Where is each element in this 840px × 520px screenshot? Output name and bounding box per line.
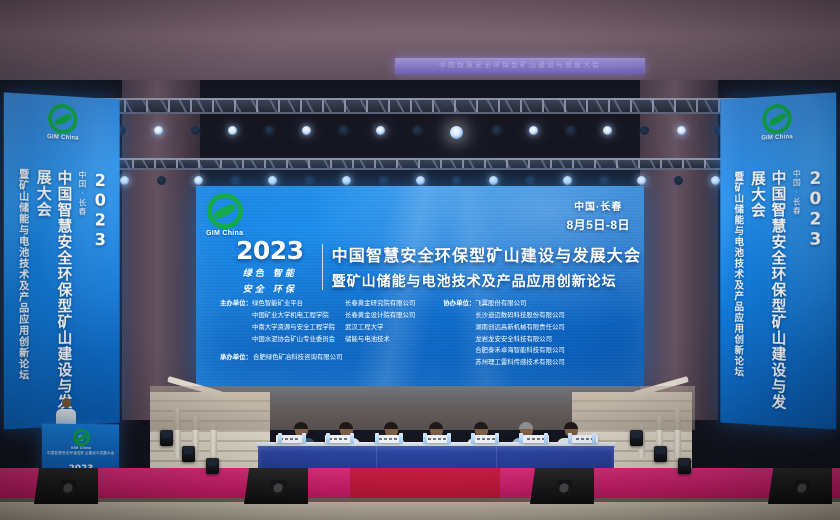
stage-lamp — [339, 126, 348, 135]
floor-edge-strip — [0, 498, 840, 502]
water-bottle — [544, 433, 548, 444]
water-bottle — [375, 433, 379, 444]
panelist-hair — [474, 422, 488, 429]
water-bottle — [278, 433, 282, 444]
stage-lamp — [674, 176, 683, 185]
stage-lamp — [228, 126, 237, 135]
stage-lamp — [268, 176, 277, 185]
stage-lamp — [529, 126, 538, 135]
lighting-truss-upper — [58, 98, 782, 114]
main-led-screen: GIM China 中国·长春 8月5日-8日 2023 绿色 智能 安全 环保… — [196, 186, 644, 386]
foreground-floor — [0, 498, 840, 520]
side-banner-left: GIM China 2023 中国·长春 中国智慧安全环保型矿山建设与发展大会 … — [4, 92, 120, 429]
stage-lamp — [637, 176, 646, 185]
stage-scene: 中国智慧安全环保型矿山建设与发展大会 GIM China 2023 中国·长春 … — [0, 0, 840, 520]
stage-light-row-lower — [120, 176, 720, 185]
banner-left-year: 2023 — [91, 171, 110, 418]
speaker-grill — [59, 480, 77, 496]
banner-left-subtitle: 暨矿山储能与电池技术及产品应用创新论坛 — [15, 168, 30, 423]
host-organizer-item: 长春黄金设计院有限公司 — [345, 310, 415, 322]
moving-head-light — [182, 446, 195, 462]
banner-right-subtitle: 暨矿山储能与电池技术及产品应用创新论坛 — [730, 171, 744, 418]
floor-monitor-speaker — [34, 468, 98, 504]
stage-lamp — [452, 176, 461, 185]
stage-lamp — [450, 126, 463, 139]
water-bottle — [423, 433, 427, 444]
stage-lamp — [489, 176, 498, 185]
stage-lamp — [677, 126, 686, 135]
stage-lamp — [120, 176, 129, 185]
gim-china-logo-screen: GIM China — [206, 193, 243, 237]
host-organizer-item: 中国水泥协会矿山专业委员会 — [252, 334, 335, 346]
speaker-grill — [793, 480, 811, 496]
moving-head-light — [206, 458, 219, 474]
floor-monitor-speaker — [244, 468, 308, 504]
cohost-label: 协办单位： — [443, 298, 475, 369]
moving-head-light — [654, 446, 667, 462]
stage-lamp — [379, 176, 388, 185]
stage-lamp — [376, 126, 385, 135]
event-slogan-line1: 绿色 智能 — [236, 266, 304, 279]
title-divider — [322, 244, 323, 290]
stage-lamp — [600, 176, 609, 185]
banner-right-text-columns: 2023 中国·长春 中国智慧安全环保型矿山建设与发展大会 暨矿山储能与电池技术… — [720, 168, 836, 424]
podium-title: 中国智慧安全环保型矿山建设与发展大会 — [42, 450, 119, 457]
panelist-hair — [429, 422, 443, 429]
cohost-organizers-group: 协办单位： 飞翼股份有限公司长沙迪迈数码科技股份有限公司湖南创远高新机械有限责任… — [443, 298, 574, 369]
stage-lamp — [191, 126, 200, 135]
floor-monitor-speaker — [530, 468, 594, 504]
gim-china-logo-banner-left: GIM China — [47, 103, 79, 142]
water-bottle — [326, 433, 330, 444]
panelist-hair — [339, 422, 353, 429]
water-bottle — [302, 433, 306, 444]
gim-china-logo-banner-right: GIM China — [761, 103, 793, 142]
side-banner-right: GIM China 2023 中国·长春 中国智慧安全环保型矿山建设与发展大会 … — [720, 92, 836, 429]
water-bottle — [471, 433, 475, 444]
banner-left-title: 中国智慧安全环保型矿山建设与发展大会 — [33, 169, 75, 422]
speaker-grill — [555, 480, 573, 496]
stage-lamp — [566, 126, 575, 135]
stage-lamp — [305, 176, 314, 185]
lighting-truss-lower — [110, 158, 730, 170]
host-organizer-item: 绿色智能矿业平台 — [252, 298, 335, 310]
stage-lamp — [413, 126, 422, 135]
banner-left-location: 中国·长春 — [77, 170, 88, 419]
ceiling-led-text: 中国智慧安全环保型矿山建设与发展大会 — [395, 59, 645, 73]
stage-lamp — [342, 176, 351, 185]
banner-right-location: 中国·长春 — [791, 169, 802, 421]
moving-head-light — [630, 430, 643, 446]
event-year: 2023 — [236, 238, 304, 263]
host-organizer-item: 中国矿业大学机电工程学院 — [252, 310, 335, 322]
undertaker-line: 承办单位： 合肥绿色矿冶科技咨询有限公司 — [220, 352, 342, 361]
host-organizer-item: 武汉工程大学 — [345, 322, 415, 334]
host-organizer-item: 中南大学资源与安全工程学院 — [252, 322, 335, 334]
panelist-hair — [384, 422, 398, 429]
floor-monitor-speaker — [768, 468, 832, 504]
banner-left-text-columns: 2023 中国·长春 中国智慧安全环保型矿山建设与发展大会 暨矿山储能与电池技术… — [4, 168, 120, 424]
moving-head-light — [678, 458, 691, 474]
stage-lamp — [640, 126, 649, 135]
cohost-list-column: 飞翼股份有限公司长沙迪迈数码科技股份有限公司湖南创远高新机械有限责任公司龙岩龙安… — [475, 298, 564, 369]
host-organizer-item: 储能与电池技术 — [345, 334, 415, 346]
cohost-organizer-item: 龙岩龙安安全科技有限公司 — [475, 334, 564, 346]
cohost-organizer-item: 合肥泰禾卓海智能科技有限公司 — [475, 345, 564, 357]
event-year-block: 2023 绿色 智能 安全 环保 — [236, 238, 313, 295]
banner-right-year: 2023 — [805, 168, 825, 423]
cohost-organizer-item: 苏州理工雷科传感技术有限公司 — [475, 357, 564, 369]
panelist-hair — [564, 422, 578, 429]
stage-lamp — [711, 176, 720, 185]
host-list-column-b: 长春黄金研究院有限公司长春黄金设计院有限公司武汉工程大学储能与电池技术 — [345, 298, 415, 369]
event-title-sub: 暨矿山储能与电池技术及产品应用创新论坛 — [332, 271, 642, 291]
stage-lamp — [603, 126, 612, 135]
event-dates: 8月5日-8日 — [566, 216, 630, 233]
water-bottle-row — [268, 432, 606, 444]
event-slogan-line2: 安全 环保 — [236, 282, 304, 295]
stage-lamp — [265, 126, 274, 135]
water-bottle — [399, 433, 403, 444]
water-bottle — [568, 433, 572, 444]
cohost-organizer-item: 湖南创远高新机械有限责任公司 — [475, 322, 564, 334]
cohost-organizer-item: 飞翼股份有限公司 — [475, 298, 564, 310]
event-title-row: 2023 绿色 智能 安全 环保 中国智慧安全环保型矿山建设与发展大会 暨矿山储… — [236, 238, 641, 295]
speaker-head — [62, 398, 71, 408]
venue-ceiling-wall — [0, 0, 840, 90]
stage-light-row-upper — [80, 126, 760, 139]
speaker-grill — [269, 480, 287, 496]
stage-lamp — [231, 176, 240, 185]
event-titles: 中国智慧安全环保型矿山建设与发展大会 暨矿山储能与电池技术及产品应用创新论坛 — [332, 242, 642, 291]
stage-lamp — [563, 176, 572, 185]
event-city: 中国·长春 — [566, 198, 630, 213]
stage-lamp — [526, 176, 535, 185]
water-bottle — [519, 433, 523, 444]
gim-china-logo-podium: GIM China — [71, 429, 91, 450]
stage-lamp — [492, 126, 501, 135]
stage-lamp — [416, 176, 425, 185]
undertaker-label: 承办单位： — [220, 352, 252, 361]
water-bottle — [592, 433, 596, 444]
cohost-organizer-item: 长沙迪迈数码科技股份有限公司 — [475, 310, 564, 322]
event-title-main: 中国智慧安全环保型矿山建设与发展大会 — [332, 242, 642, 266]
stage-lamp — [157, 176, 166, 185]
stage-lamp — [154, 126, 163, 135]
water-bottle — [495, 433, 499, 444]
event-date-block: 中国·长春 8月5日-8日 — [566, 198, 630, 233]
undertaker-name: 合肥绿色矿冶科技咨询有限公司 — [253, 352, 342, 361]
water-bottle — [447, 433, 451, 444]
stage-lamp — [302, 126, 311, 135]
water-bottle — [350, 433, 354, 444]
ceiling-led-strip: 中国智慧安全环保型矿山建设与发展大会 — [395, 58, 645, 74]
panelist-hair — [294, 422, 308, 429]
banner-right-title: 中国智慧安全环保型矿山建设与发展大会 — [747, 170, 788, 421]
host-organizer-item: 长春黄金研究院有限公司 — [345, 298, 415, 310]
moving-head-light — [160, 430, 173, 446]
panelist-hair — [519, 422, 533, 429]
stage-lamp — [194, 176, 203, 185]
